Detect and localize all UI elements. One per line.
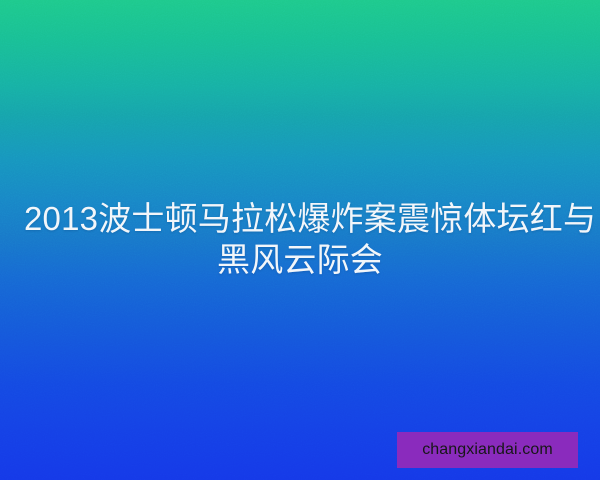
image-canvas: 2013波士顿马拉松爆炸案震惊体坛红与 黑风云际会 changxiandai.c… (0, 0, 600, 480)
title-text: 2013波士顿马拉松爆炸案震惊体坛红与 黑风云际会 (0, 198, 600, 280)
watermark-badge: changxiandai.com (397, 432, 578, 468)
watermark-label: changxiandai.com (422, 442, 553, 458)
title-line-1: 2013波士顿马拉松爆炸案震惊体坛红与 (24, 198, 576, 239)
title-line-2: 黑风云际会 (24, 239, 576, 280)
